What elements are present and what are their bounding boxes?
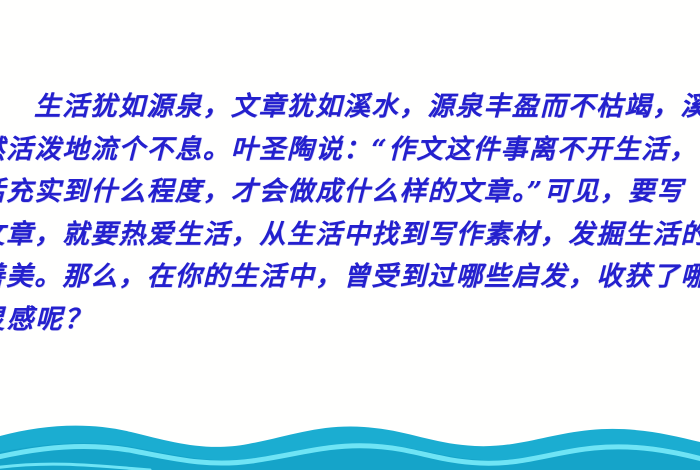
paragraph-line-6: 灵感呢？ [0,299,700,342]
paragraph-line-2: 然活泼地流个不息。叶圣陶说：“作文这件事离不开生活， [0,129,700,172]
wave-graphic-icon [0,418,700,470]
paragraph-line-5: 善美。那么，在你的生活中，曾受到过哪些启发，收获了哪 [0,256,700,299]
wave-decoration [0,418,700,470]
slide-canvas: 生活犹如源泉，文章犹如溪水，源泉丰盈而不枯竭，溪水 然活泼地流个不息。叶圣陶说：… [0,0,700,470]
paragraph-line-1: 生活犹如源泉，文章犹如溪水，源泉丰盈而不枯竭，溪水 [0,86,700,129]
paragraph-text-block: 生活犹如源泉，文章犹如溪水，源泉丰盈而不枯竭，溪水 然活泼地流个不息。叶圣陶说：… [0,86,700,342]
paragraph-line-4: 文章，就要热爱生活，从生活中找到写作素材，发掘生活的 [0,214,700,257]
paragraph-line-3: 活充实到什么程度，才会做成什么样的文章。”可见，要写 [0,171,700,214]
